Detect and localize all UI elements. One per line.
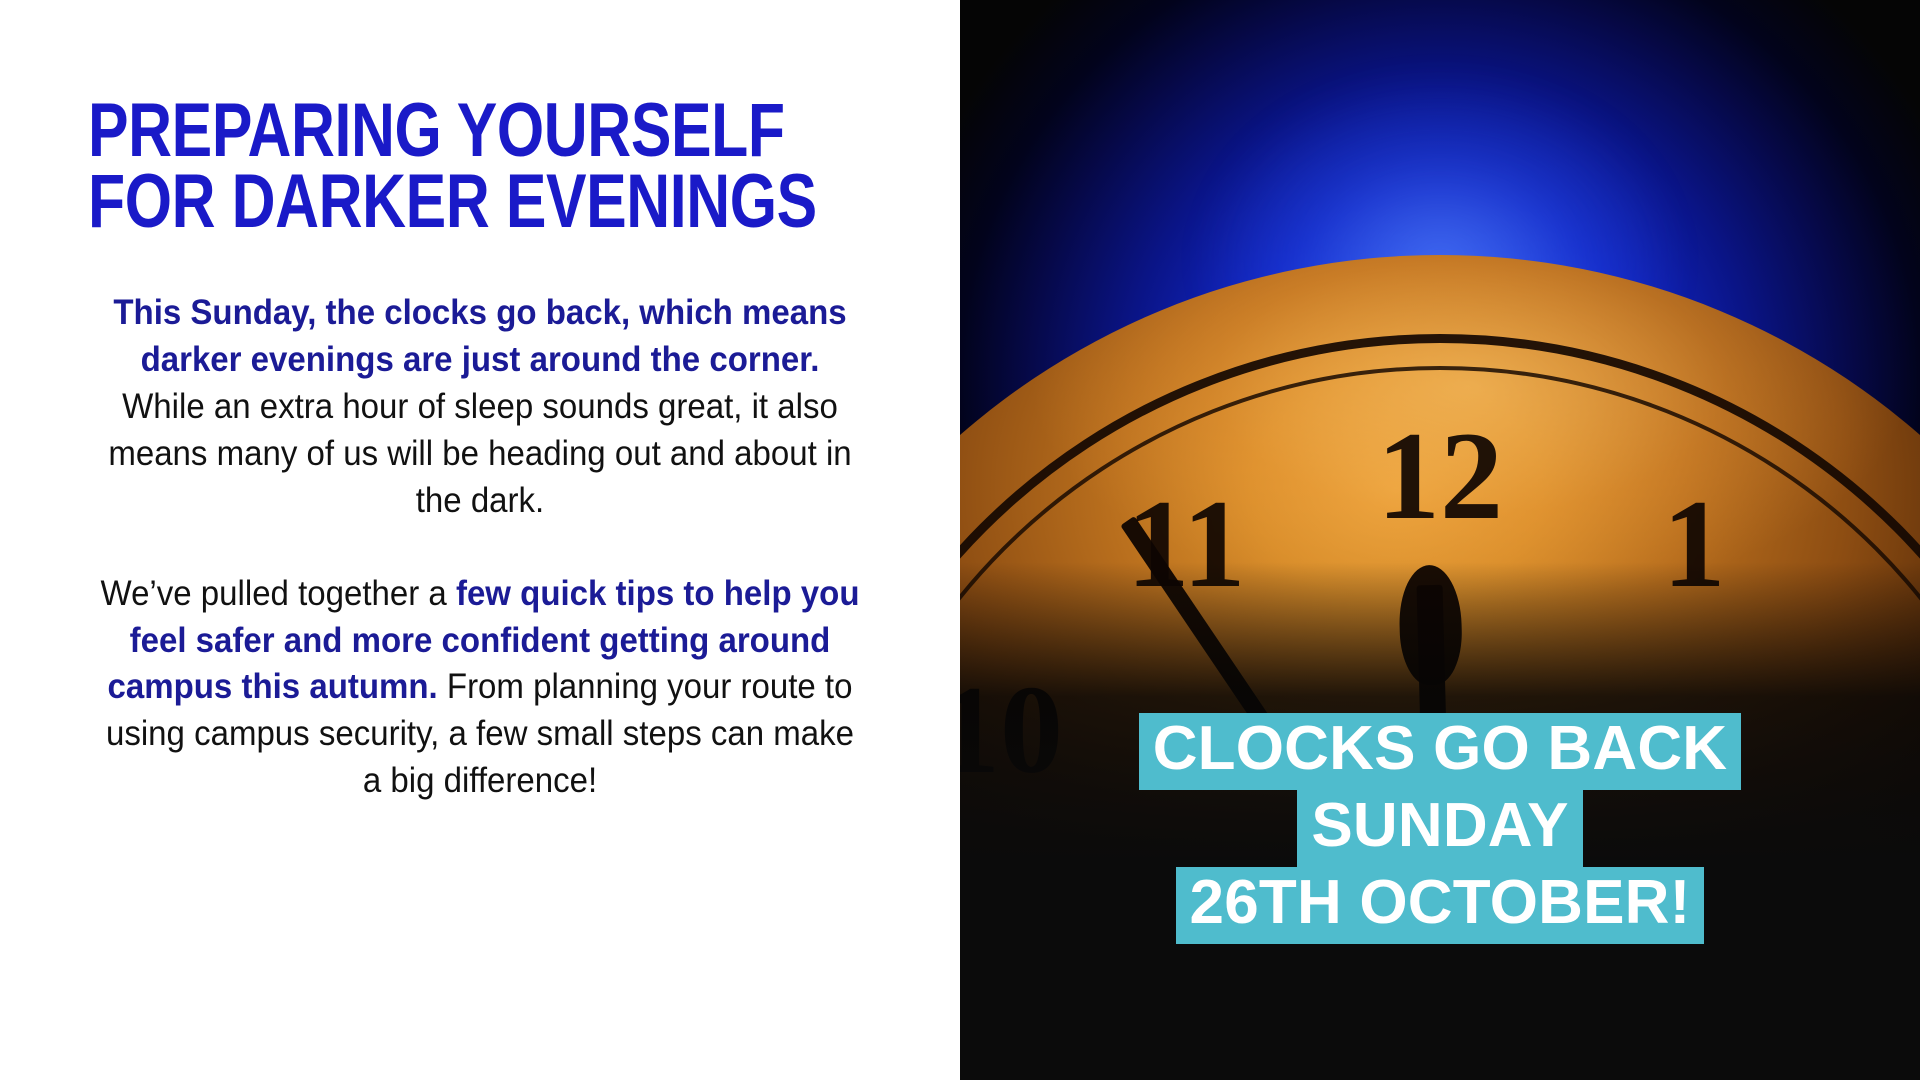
caption-line-3: 26TH OCTOBER!: [960, 867, 1920, 944]
paragraph-2-plain-lead: We’ve pulled together a: [101, 573, 456, 613]
paragraph-1: This Sunday, the clocks go back, which m…: [97, 289, 863, 523]
paragraph-1-emphasis: This Sunday, the clocks go back, which m…: [113, 292, 846, 379]
headline-line-1: PREPARING YOURSELF: [88, 96, 732, 167]
page-title: PREPARING YOURSELF FOR DARKER EVENINGS: [60, 96, 732, 237]
paragraph-1-plain: While an extra hour of sleep sounds grea…: [108, 386, 851, 520]
caption-line-1: CLOCKS GO BACK: [960, 713, 1920, 790]
paragraph-2: We’ve pulled together a few quick tips t…: [97, 570, 863, 804]
poster-root: PREPARING YOURSELF FOR DARKER EVENINGS T…: [0, 0, 1920, 1080]
caption-line-2: SUNDAY: [960, 790, 1920, 867]
clocks-go-back-caption: CLOCKS GO BACK SUNDAY 26TH OCTOBER!: [960, 713, 1920, 944]
left-content: PREPARING YOURSELF FOR DARKER EVENINGS T…: [0, 0, 960, 804]
body-copy: This Sunday, the clocks go back, which m…: [60, 289, 900, 804]
right-image-panel: 10 11 12 1 CLOCKS GO BACK SUNDAY 26TH OC…: [960, 0, 1920, 1080]
left-text-panel: PREPARING YOURSELF FOR DARKER EVENINGS T…: [0, 0, 960, 1080]
clock-numeral-12: 12: [1377, 405, 1503, 549]
headline-line-2: FOR DARKER EVENINGS: [88, 167, 732, 238]
